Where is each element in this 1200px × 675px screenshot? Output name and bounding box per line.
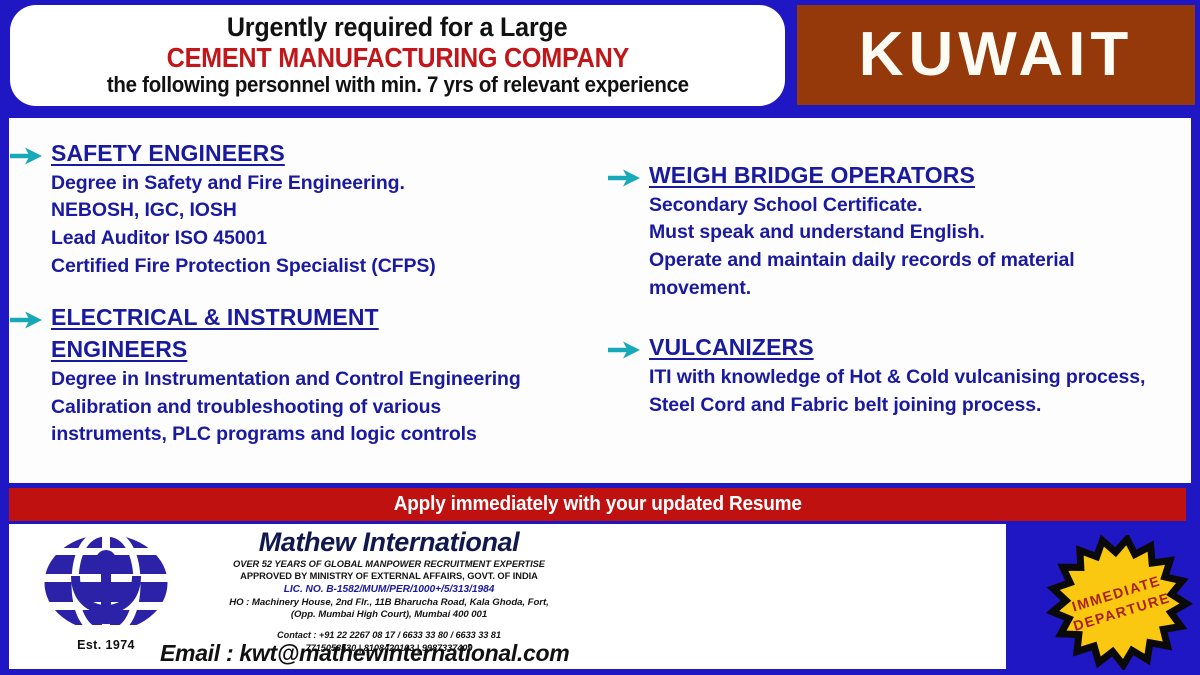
- spacer: [189, 622, 589, 629]
- job-requirement-line: Certified Fire Protection Specialist (CF…: [51, 253, 604, 281]
- job-listing: VULCANIZERSITI with knowledge of Hot & C…: [607, 332, 1191, 419]
- header-banner: Urgently required for a Large CEMENT MAN…: [0, 0, 1200, 112]
- job-requirements: Degree in Safety and Fire Engineering.NE…: [51, 170, 604, 281]
- company-name: Mathew International: [189, 528, 589, 558]
- job-title-row: VULCANIZERS: [607, 332, 1191, 364]
- job-requirement-line: Degree in Instrumentation and Control En…: [51, 366, 551, 394]
- job-requirement-line: Secondary School Certificate.: [649, 192, 1099, 220]
- job-title: WEIGH BRIDGE OPERATORS: [649, 160, 975, 192]
- job-requirement-line: NEBOSH, IGC, IOSH: [51, 197, 604, 225]
- globe-figure-logo: [31, 530, 181, 640]
- job-title-row: WEIGH BRIDGE OPERATORS: [607, 160, 1191, 192]
- headline-company-type: CEMENT MANUFACTURING COMPANY: [166, 42, 628, 73]
- arrow-right-icon: [607, 338, 649, 362]
- arrow-right-icon: [9, 308, 51, 332]
- job-requirement-line: Calibration and troubleshooting of vario…: [51, 394, 551, 449]
- job-title: SAFETY ENGINEERS: [51, 138, 285, 170]
- arrow-right-icon: [607, 166, 649, 190]
- job-requirement-line: Lead Auditor ISO 45001: [51, 225, 604, 253]
- job-listing: ELECTRICAL & INSTRUMENT ENGINEERSDegree …: [9, 302, 604, 449]
- job-requirement-line: Degree in Safety and Fire Engineering.: [51, 170, 604, 198]
- apply-text: Apply immediately with your updated Resu…: [394, 493, 802, 516]
- company-details: Mathew International OVER 52 YEARS OF GL…: [189, 528, 589, 654]
- company-address-line-2: (Opp. Mumbai High Court), Mumbai 400 001: [189, 609, 589, 622]
- job-requirement-line: Operate and maintain daily records of ma…: [649, 247, 1099, 302]
- company-address-line-1: HO : Machinery House, 2nd Flr., 11B Bhar…: [189, 597, 589, 610]
- company-logo: Est. 1974: [31, 530, 181, 662]
- company-tagline: OVER 52 YEARS OF GLOBAL MANPOWER RECRUIT…: [189, 558, 589, 571]
- headline-line-1: Urgently required for a Large: [227, 13, 568, 41]
- company-license: LIC. NO. B-1582/MUM/PER/1000+/5/313/1984: [189, 583, 589, 597]
- headline-line-3: the following personnel with min. 7 yrs …: [107, 73, 689, 98]
- country-badge: KUWAIT: [797, 5, 1195, 105]
- job-title: ELECTRICAL & INSTRUMENT ENGINEERS: [51, 302, 451, 365]
- contact-email[interactable]: Email : kwt@mathewinternational.com: [160, 640, 569, 667]
- job-column-right: WEIGH BRIDGE OPERATORSSecondary School C…: [607, 118, 1191, 420]
- header-headline-box: Urgently required for a Large CEMENT MAN…: [10, 5, 785, 106]
- job-listing: SAFETY ENGINEERSDegree in Safety and Fir…: [9, 118, 604, 280]
- company-approval: APPROVED BY MINISTRY OF EXTERNAL AFFAIRS…: [189, 570, 589, 583]
- job-title-row: SAFETY ENGINEERS: [9, 138, 604, 170]
- job-column-left: SAFETY ENGINEERSDegree in Safety and Fir…: [9, 118, 604, 449]
- job-requirements: Secondary School Certificate.Must speak …: [649, 192, 1099, 303]
- job-requirements: Degree in Instrumentation and Control En…: [51, 366, 551, 449]
- job-requirement-line: ITI with knowledge of Hot & Cold vulcani…: [649, 364, 1189, 419]
- apply-call-to-action-bar: Apply immediately with your updated Resu…: [9, 488, 1186, 521]
- country-label: KUWAIT: [859, 24, 1134, 86]
- arrow-right-icon: [9, 144, 51, 168]
- job-title-row: ELECTRICAL & INSTRUMENT ENGINEERS: [9, 302, 604, 365]
- job-requirement-line: Must speak and understand English.: [649, 219, 1099, 247]
- job-listings-panel: SAFETY ENGINEERSDegree in Safety and Fir…: [9, 118, 1191, 483]
- established-label: Est. 1974: [31, 638, 181, 652]
- job-title: VULCANIZERS: [649, 332, 814, 364]
- job-listing: WEIGH BRIDGE OPERATORSSecondary School C…: [607, 118, 1191, 302]
- job-requirements: ITI with knowledge of Hot & Cold vulcani…: [649, 364, 1189, 419]
- immediate-departure-badge: IMMEDIATE DEPARTURE: [1044, 535, 1194, 670]
